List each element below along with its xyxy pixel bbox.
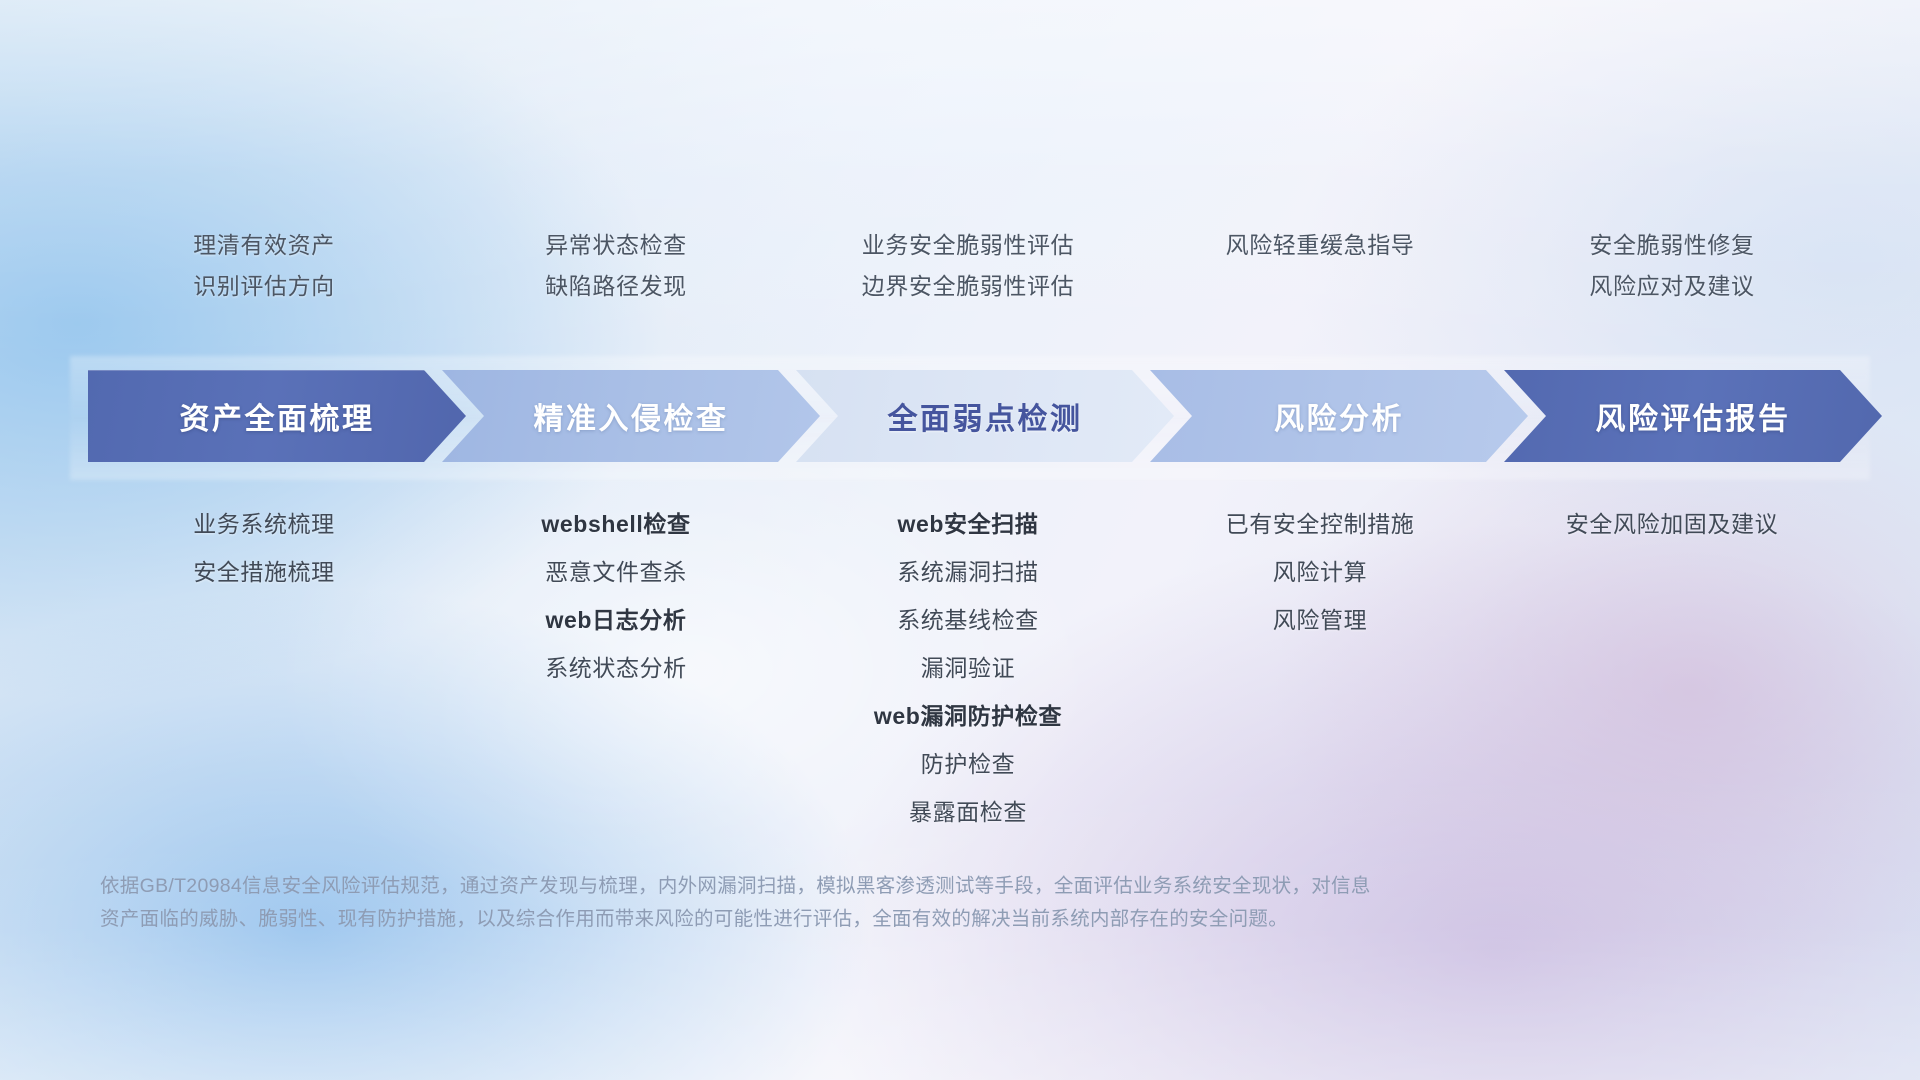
list-item: 防护检查 (792, 740, 1144, 788)
chevron-label: 风险分析 (1274, 394, 1404, 438)
top-note-text: 风险轻重缓急指导 (1144, 225, 1496, 266)
top-note-text: 安全脆弱性修复 (1496, 225, 1848, 266)
top-notes-stage-5: 安全脆弱性修复 风险应对及建议 (1496, 225, 1848, 307)
list-item: 安全风险加固及建议 (1496, 500, 1848, 548)
bottom-items-stage-4: 已有安全控制措施 风险计算 风险管理 (1144, 500, 1496, 644)
list-item: web安全扫描 (792, 500, 1144, 548)
list-item: 系统基线检查 (792, 596, 1144, 644)
slide-canvas: 理清有效资产 识别评估方向 异常状态检查 缺陷路径发现 业务安全脆弱性评估 边界… (0, 0, 1920, 1080)
list-item: 恶意文件查杀 (440, 548, 792, 596)
bottom-items-stage-2: webshell检查 恶意文件查杀 web日志分析 系统状态分析 (440, 500, 792, 692)
chevron-stage-assessment-report[interactable]: 风险评估报告 (1504, 370, 1882, 462)
chevron-stage-asset-inventory[interactable]: 资产全面梳理 (88, 370, 466, 462)
top-notes-row: 理清有效资产 识别评估方向 异常状态检查 缺陷路径发现 业务安全脆弱性评估 边界… (0, 225, 1920, 335)
top-note-text: 异常状态检查 (440, 225, 792, 266)
chevron-label: 精准入侵检查 (534, 394, 729, 438)
bottom-items-stage-5: 安全风险加固及建议 (1496, 500, 1848, 548)
chevron-stage-weakness-detection[interactable]: 全面弱点检测 (796, 370, 1174, 462)
top-note-text: 理清有效资产 (88, 225, 440, 266)
top-note-text: 边界安全脆弱性评估 (792, 266, 1144, 307)
top-notes-stage-2: 异常状态检查 缺陷路径发现 (440, 225, 792, 307)
top-notes-stage-1: 理清有效资产 识别评估方向 (88, 225, 440, 307)
footer-description: 依据GB/T20984信息安全风险评估规范，通过资产发现与梳理，内外网漏洞扫描，… (100, 870, 1660, 936)
list-item: 系统漏洞扫描 (792, 548, 1144, 596)
top-note-text: 风险应对及建议 (1496, 266, 1848, 307)
top-notes-stage-3: 业务安全脆弱性评估 边界安全脆弱性评估 (792, 225, 1144, 307)
list-item: 风险管理 (1144, 596, 1496, 644)
list-item: webshell检查 (440, 500, 792, 548)
footer-line-2: 资产面临的威胁、脆弱性、现有防护措施，以及综合作用而带来风险的可能性进行评估，全… (100, 903, 1660, 936)
list-item: 已有安全控制措施 (1144, 500, 1496, 548)
chevron-label: 资产全面梳理 (180, 394, 375, 438)
chevron-stage-risk-analysis[interactable]: 风险分析 (1150, 370, 1528, 462)
bottom-items-row: 业务系统梳理 安全措施梳理 webshell检查 恶意文件查杀 web日志分析 … (0, 500, 1920, 840)
bottom-items-stage-1: 业务系统梳理 安全措施梳理 (88, 500, 440, 596)
top-note-text: 缺陷路径发现 (440, 266, 792, 307)
chevron-label: 全面弱点检测 (888, 394, 1083, 438)
list-item: 暴露面检查 (792, 788, 1144, 836)
list-item: web漏洞防护检查 (792, 692, 1144, 740)
list-item: 风险计算 (1144, 548, 1496, 596)
top-notes-stage-4: 风险轻重缓急指导 (1144, 225, 1496, 266)
slide-content: 理清有效资产 识别评估方向 异常状态检查 缺陷路径发现 业务安全脆弱性评估 边界… (0, 0, 1920, 1080)
chevron-stage-intrusion-check[interactable]: 精准入侵检查 (442, 370, 820, 462)
bottom-items-stage-3: web安全扫描 系统漏洞扫描 系统基线检查 漏洞验证 web漏洞防护检查 防护检… (792, 500, 1144, 836)
list-item: web日志分析 (440, 596, 792, 644)
top-note-text: 业务安全脆弱性评估 (792, 225, 1144, 266)
list-item: 安全措施梳理 (88, 548, 440, 596)
chevron-label: 风险评估报告 (1596, 394, 1791, 438)
footer-line-1: 依据GB/T20984信息安全风险评估规范，通过资产发现与梳理，内外网漏洞扫描，… (100, 870, 1660, 903)
list-item: 漏洞验证 (792, 644, 1144, 692)
list-item: 业务系统梳理 (88, 500, 440, 548)
process-chevron-band: 资产全面梳理 精准入侵检查 全面弱点检测 风险分析 风险评估报告 (88, 370, 1848, 462)
list-item: 系统状态分析 (440, 644, 792, 692)
top-note-text: 识别评估方向 (88, 266, 440, 307)
